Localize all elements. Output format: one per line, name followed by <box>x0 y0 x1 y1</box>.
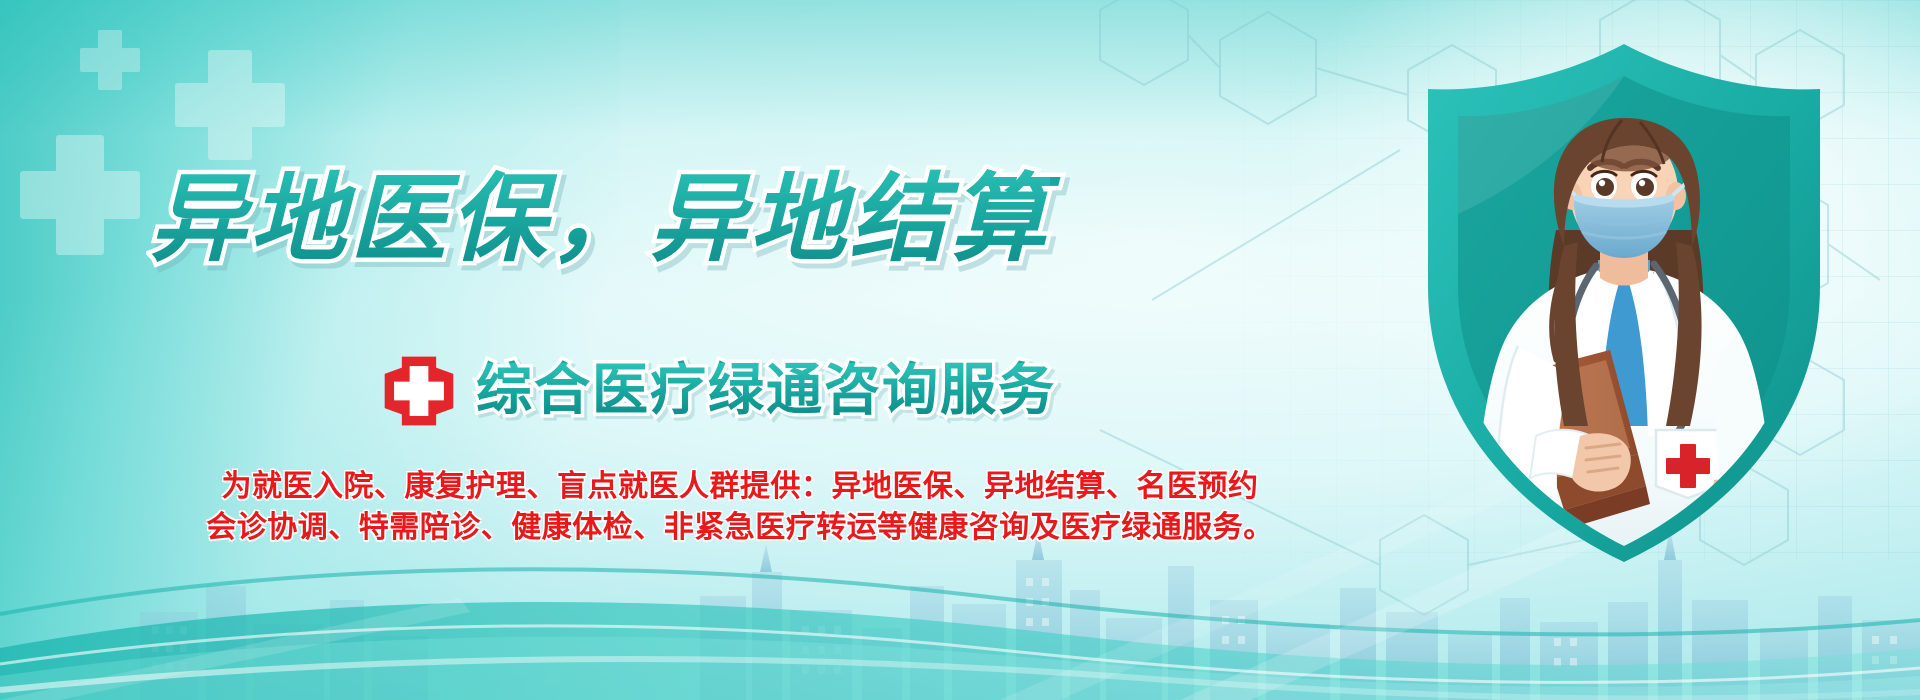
service-description: 为就医入院、康复护理、盲点就医人群提供：异地医保、异地结算、名医预约 会诊协调、… <box>180 466 1300 549</box>
red-cross-badge-icon <box>380 352 458 430</box>
subtitle: 综合医疗绿通咨询服务 <box>476 363 1056 419</box>
page-title: 异地医保，异地结算 <box>150 168 1050 272</box>
subtitle-group: 综合医疗绿通咨询服务 综合医疗绿通咨询服务 <box>380 352 1056 430</box>
medical-service-banner: 异地医保，异地结算 异地医保，异地结算 综合医疗绿通咨询服务 综合医疗绿通咨询服… <box>0 0 1920 700</box>
description-line-1: 为就医入院、康复护理、盲点就医人群提供：异地医保、异地结算、名医预约 <box>180 466 1300 507</box>
description-line-2: 会诊协调、特需陪诊、健康体检、非紧急医疗转运等健康咨询及医疗绿通服务。 <box>180 507 1300 548</box>
doctor-illustration <box>1414 34 1834 564</box>
